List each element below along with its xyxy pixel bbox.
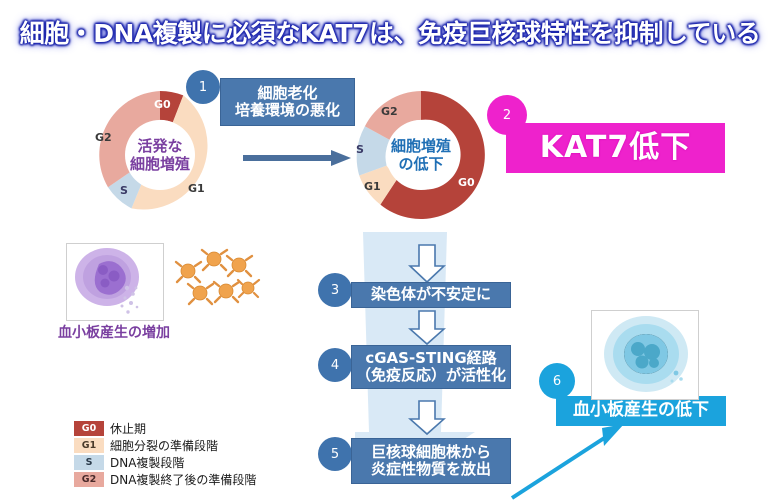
megakaryocyte-image-blue	[591, 310, 699, 400]
step-6-label: 血小板産生の低下	[573, 401, 709, 421]
step-2-label: KAT7低下	[540, 131, 691, 166]
diagram-canvas: 細胞・DNA複製に必須なKAT7は、免疫巨核球特性を抑制している 活発な 細胞増…	[0, 0, 780, 500]
step-5-line-1: 巨核球細胞株から	[371, 444, 491, 461]
page-title: 細胞・DNA複製に必須なKAT7は、免疫巨核球特性を抑制している	[0, 14, 780, 50]
step-5-box[interactable]: 巨核球細胞株から 炎症性物質を放出	[351, 438, 511, 484]
flow-arrow-2	[408, 310, 446, 346]
segment-label-s: S	[356, 143, 364, 156]
segment-label-g1: G1	[188, 182, 205, 195]
caption-platelet-increase: 血小板産生の増加	[58, 322, 170, 342]
legend-row: G0 休止期	[74, 420, 256, 437]
donut-right-svg	[353, 87, 489, 223]
cell-cycle-chart-left: 活発な 細胞増殖 G0 G1 S G2	[92, 87, 228, 223]
flow-arrow-diagonal	[508, 420, 628, 500]
legend-text-s: DNA複製段階	[110, 454, 184, 471]
legend-text-g1: 細胞分裂の準備段階	[110, 437, 218, 454]
legend-row: G2 DNA複製終了後の準備段階	[74, 471, 256, 488]
cell-illustration-purple	[67, 244, 164, 321]
step-3-line-1: 染色体が不安定に	[371, 286, 491, 303]
step-2-number: 2	[503, 108, 511, 123]
legend-chip-s: S	[74, 455, 104, 470]
step-1-line-1: 細胞老化	[257, 85, 317, 102]
flow-arrow-3	[408, 400, 446, 436]
cycle-transition-arrow	[243, 148, 353, 168]
step-1-badge: 1	[186, 70, 220, 104]
legend-chip-g1: G1	[74, 438, 104, 453]
step-6-box[interactable]: 血小板産生の低下	[556, 396, 726, 426]
step-4-line-2: （免疫反応）が活性化	[356, 367, 506, 384]
legend-chip-g2: G2	[74, 472, 104, 487]
step-5-number: 5	[331, 447, 339, 462]
cell-cycle-legend: G0 休止期 G1 細胞分裂の準備段階 S DNA複製段階 G2 DNA複製終了…	[74, 420, 256, 488]
platelet-cluster-illustration	[166, 243, 271, 321]
step-3-box[interactable]: 染色体が不安定に	[351, 282, 511, 308]
segment-label-s: S	[120, 184, 128, 197]
step-4-number: 4	[331, 358, 339, 373]
segment-label-g2: G2	[95, 131, 112, 144]
step-2-box[interactable]: KAT7低下	[506, 123, 725, 173]
step-6-number: 6	[553, 374, 561, 389]
step-4-badge: 4	[318, 348, 352, 382]
cell-cycle-chart-right: 細胞増殖 の低下 G0 G1 S G2	[353, 87, 489, 223]
legend-text-g2: DNA複製終了後の準備段階	[110, 471, 256, 488]
segment-label-g0: G0	[458, 176, 475, 189]
step-3-number: 3	[331, 283, 339, 298]
segment-label-g0: G0	[154, 98, 171, 111]
segment-label-g1: G1	[364, 180, 381, 193]
step-4-line-1: cGAS-STING経路	[365, 350, 496, 367]
step-5-badge: 5	[318, 437, 352, 471]
megakaryocyte-image-purple	[66, 243, 164, 321]
step-6-badge: 6	[539, 363, 575, 399]
legend-text-g0: 休止期	[110, 420, 146, 437]
step-1-line-2: 培養環境の悪化	[235, 102, 340, 119]
legend-row: G1 細胞分裂の準備段階	[74, 437, 256, 454]
cell-illustration-blue	[592, 311, 699, 400]
step-3-badge: 3	[318, 273, 352, 307]
step-4-box[interactable]: cGAS-STING経路 （免疫反応）が活性化	[351, 345, 511, 389]
segment-label-g2: G2	[381, 105, 398, 118]
flow-arrow-1	[408, 244, 446, 284]
step-1-number: 1	[199, 80, 207, 95]
step-1-box[interactable]: 細胞老化 培養環境の悪化	[220, 78, 355, 126]
legend-row: S DNA複製段階	[74, 454, 256, 471]
legend-chip-g0: G0	[74, 421, 104, 436]
step-5-line-2: 炎症性物質を放出	[371, 461, 491, 478]
